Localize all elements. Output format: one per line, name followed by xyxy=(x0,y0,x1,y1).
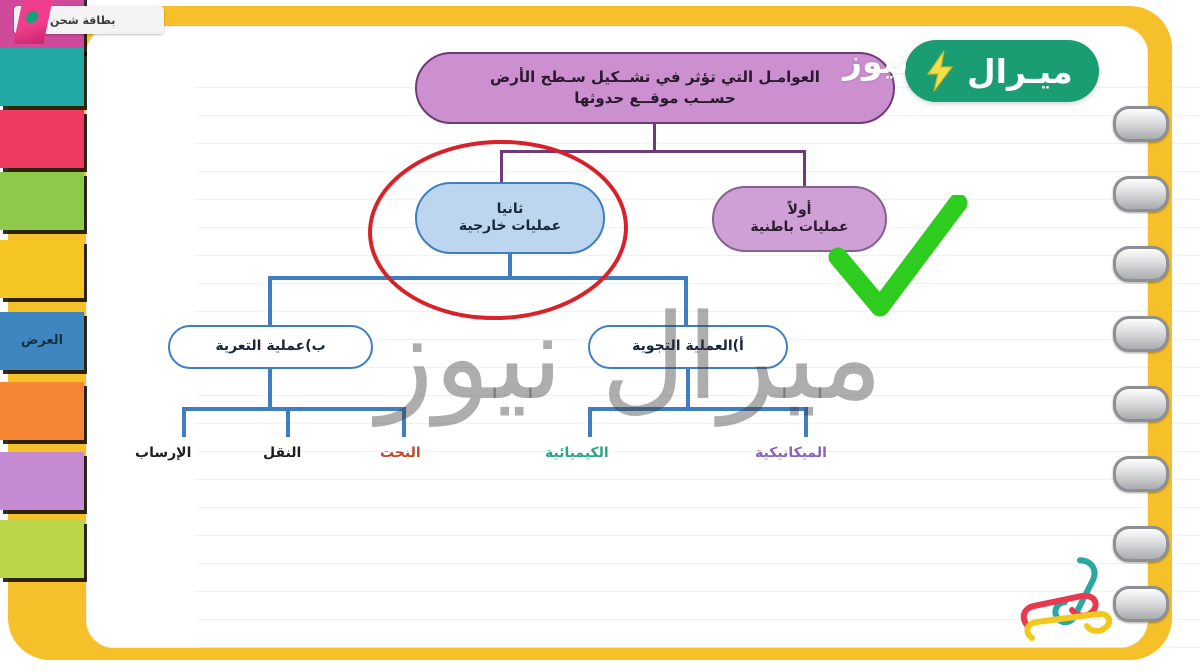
node-weathering-label: أ)العملية التجوية xyxy=(632,338,744,356)
leaf-deposition: الإرساب xyxy=(135,445,191,461)
connector-weathering-leaf-2 xyxy=(804,407,808,437)
brand-name-part1: ميـرال xyxy=(967,52,1073,91)
node-weathering-process: أ)العملية التجوية xyxy=(588,325,788,369)
leaf-chemical: الكيميائية xyxy=(545,445,609,461)
connector-erosion-leaf-1 xyxy=(182,407,186,437)
connector-erosion-stem xyxy=(268,369,272,409)
node-erosion-process: ب)عملية التعرية xyxy=(168,325,373,369)
connector-weathering-bus xyxy=(588,407,808,411)
leaf-mechanical: الميكانيكية xyxy=(755,445,827,461)
brand-badge: ميـرال xyxy=(905,40,1099,102)
root-line-2: حســب موقــع حدوثها xyxy=(574,89,736,108)
root-line-1: العوامـل التي تؤثر في تشــكيل سـطح الأرض xyxy=(490,68,820,87)
node-internal-order: أولاً xyxy=(788,202,812,220)
green-checkmark-icon xyxy=(828,195,968,320)
node-erosion-label: ب)عملية التعرية xyxy=(215,338,325,356)
connector-to-internal xyxy=(803,150,806,188)
leaf-abrasion: النحت xyxy=(380,445,421,461)
connector-weathering-stem xyxy=(686,369,690,409)
connector-erosion-leaf-2 xyxy=(286,407,290,437)
leaf-transport: النقل xyxy=(263,445,301,461)
connector-root-stem xyxy=(653,124,656,152)
screenshot-root: العرض بطاقة شحن العوامـل التي تؤثر في تش… xyxy=(0,0,1200,672)
connector-weathering-leaf-1 xyxy=(588,407,592,437)
lightning-bolt-icon xyxy=(923,49,957,93)
connector-erosion-leaf-3 xyxy=(402,407,406,437)
connector-to-erosion xyxy=(268,276,272,326)
red-ellipse-annotation xyxy=(365,136,631,325)
diagram-root-node: العوامـل التي تؤثر في تشــكيل سـطح الأرض… xyxy=(415,52,895,124)
connector-to-weathering xyxy=(684,276,688,326)
connector-erosion-bus xyxy=(182,407,406,411)
paperclips-icon xyxy=(1010,548,1130,644)
